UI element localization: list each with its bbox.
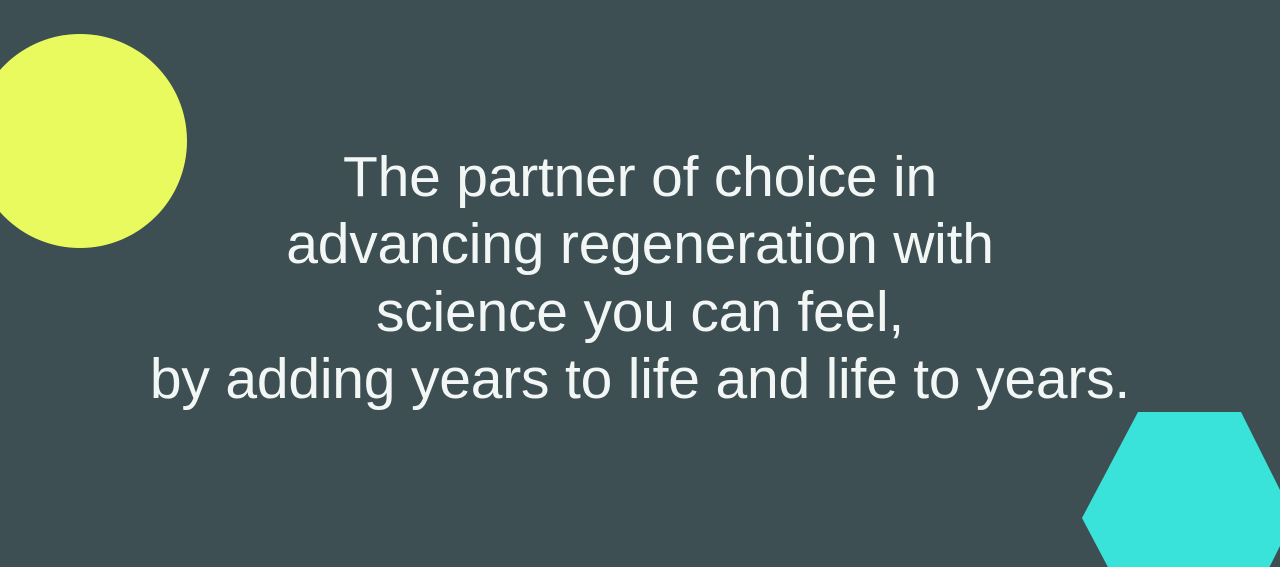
headline-line-4: by adding years to life and life to year… bbox=[50, 346, 1230, 414]
yellow-circle-decoration bbox=[0, 34, 187, 248]
headline-line-3: science you can feel, bbox=[50, 279, 1230, 347]
headline-line-1: The partner of choice in bbox=[50, 144, 1230, 212]
headline-line-2: advancing regeneration with bbox=[50, 211, 1230, 279]
slide-headline: The partner of choice in advancing regen… bbox=[50, 144, 1230, 414]
hexagon-shape bbox=[1082, 412, 1280, 567]
teal-hexagon-decoration bbox=[1081, 411, 1280, 567]
slide-canvas: The partner of choice in advancing regen… bbox=[0, 0, 1280, 567]
